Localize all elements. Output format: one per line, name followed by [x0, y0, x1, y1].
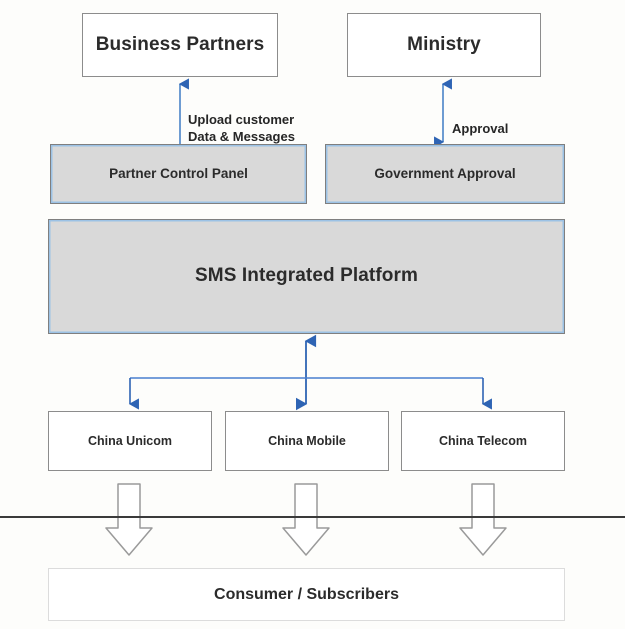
node-sms-integrated-platform[interactable]: SMS Integrated Platform: [48, 219, 565, 334]
node-consumer-subscribers[interactable]: Consumer / Subscribers: [48, 568, 565, 621]
node-china-mobile[interactable]: China Mobile: [225, 411, 389, 471]
node-partner-control-panel[interactable]: Partner Control Panel: [50, 144, 307, 204]
node-ministry-label: Ministry: [407, 34, 481, 57]
node-china-unicom-label: China Unicom: [88, 434, 172, 449]
node-china-unicom[interactable]: China Unicom: [48, 411, 212, 471]
node-government-approval-label: Government Approval: [374, 166, 515, 182]
node-china-telecom-label: China Telecom: [439, 434, 527, 449]
edge-label-upload-customer-data: Upload customer Data & Messages: [188, 93, 328, 146]
edge-label-approval: Approval: [452, 102, 542, 137]
node-ministry[interactable]: Ministry: [347, 13, 541, 77]
edge-sms-platform-bus: [130, 378, 483, 404]
node-business-partners-label: Business Partners: [96, 34, 265, 57]
block-arrow-telecom-to-consumer: [460, 484, 506, 555]
node-government-approval[interactable]: Government Approval: [325, 144, 565, 204]
node-business-partners[interactable]: Business Partners: [82, 13, 278, 77]
edge-label-upload-text: Upload customer Data & Messages: [188, 112, 295, 145]
node-china-telecom[interactable]: China Telecom: [401, 411, 565, 471]
diagram-canvas: Business Partners Ministry Upload custom…: [0, 0, 625, 629]
block-arrow-mobile-to-consumer: [283, 484, 329, 555]
edge-label-approval-text: Approval: [452, 121, 508, 136]
node-consumer-subscribers-label: Consumer / Subscribers: [214, 585, 399, 604]
block-arrow-unicom-to-consumer: [106, 484, 152, 555]
node-sms-integrated-platform-label: SMS Integrated Platform: [195, 265, 418, 288]
node-china-mobile-label: China Mobile: [268, 434, 346, 449]
node-partner-control-panel-label: Partner Control Panel: [109, 166, 248, 182]
boundary-divider-line: [0, 516, 625, 518]
